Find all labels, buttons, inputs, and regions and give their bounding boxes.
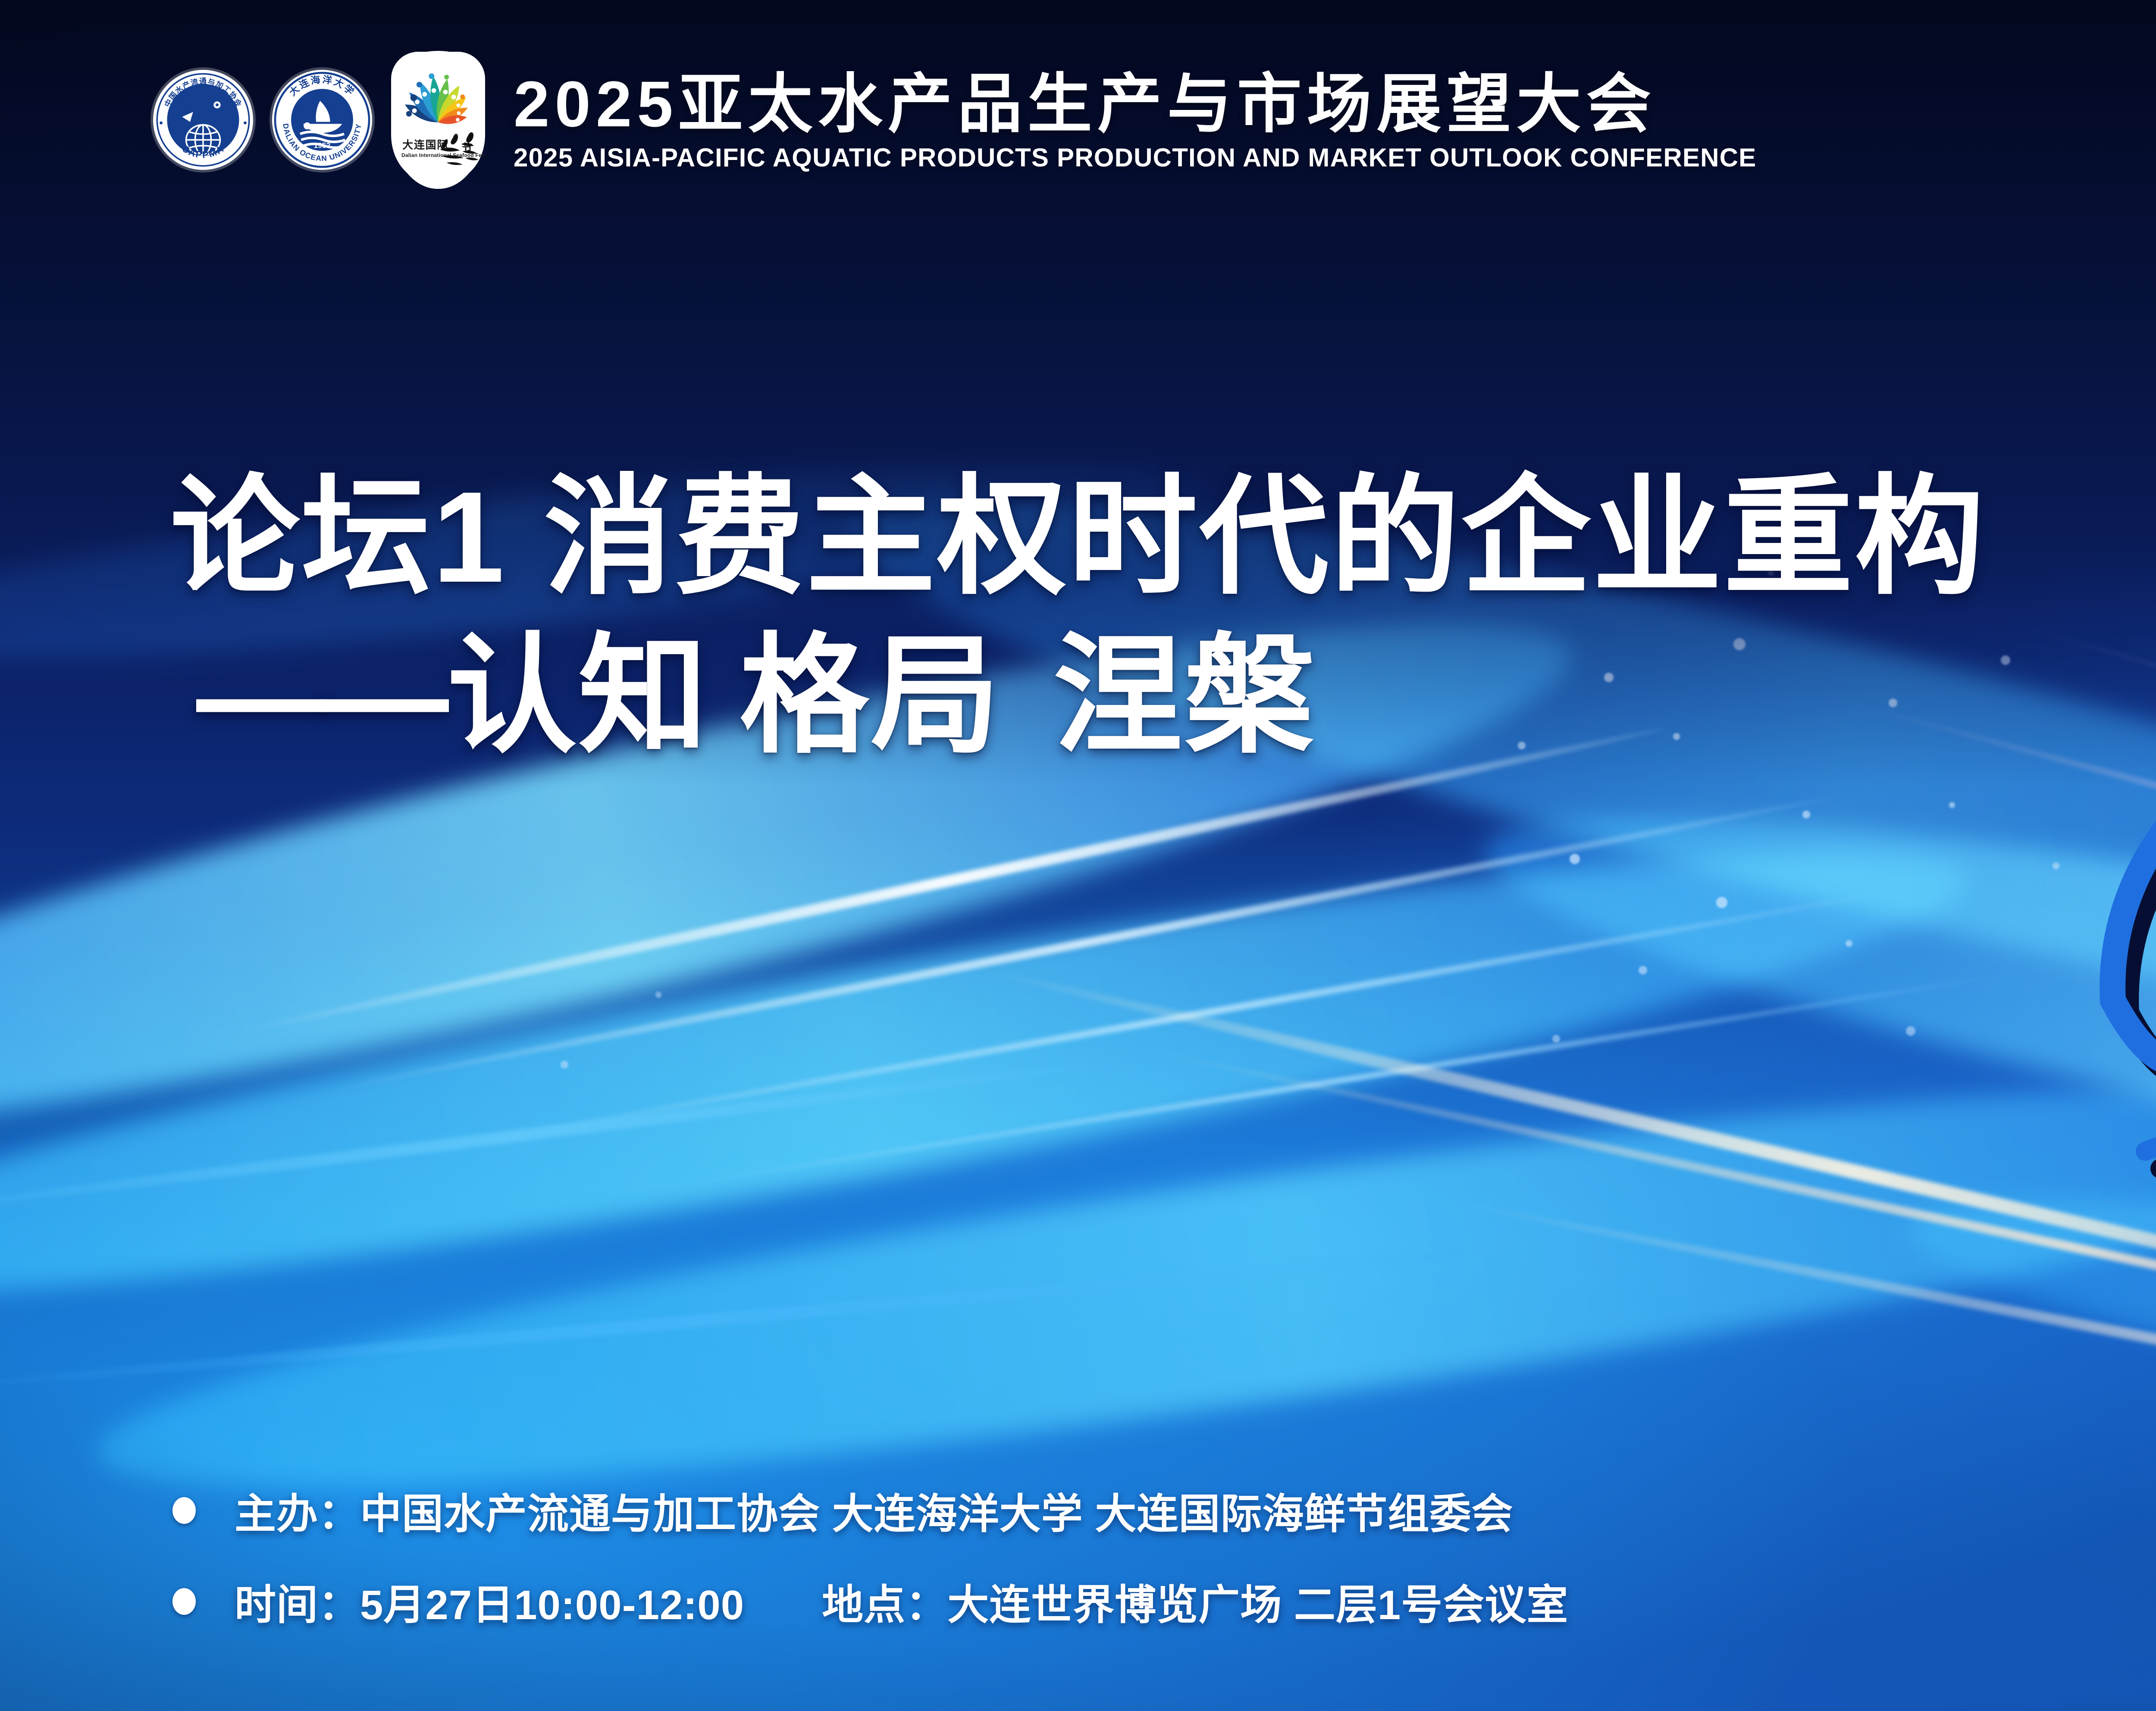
conference-title-en: 2025 AISIA-PACIFIC AQUATIC PRODUCTS PROD… <box>514 144 1756 172</box>
svg-text:1952: 1952 <box>314 141 331 150</box>
forum-title-line1: 论坛1 消费主权时代的企业重构 <box>170 472 2156 602</box>
conference-title-cn: 2025亚太水产品生产与市场展望大会 <box>514 70 1756 138</box>
dalian-ocean-university-logo: 1952 大连海洋大学 DALIAN OCEAN UNIVERSITY <box>272 70 372 170</box>
dalian-seafood-festival-logo: 大连国际 Dalian International Seafood Festiv… <box>391 51 485 189</box>
conference-title-block: 2025亚太水产品生产与市场展望大会 2025 AISIA-PACIFIC AQ… <box>514 68 1756 172</box>
info-row-organizers: 主办：中国水产流通与加工协会 大连海洋大学 大连国际海鲜节组委会 <box>172 1480 1568 1540</box>
info-row-time-place: 时间：5月27日10:00-12:00地点：大连世界博览广场 二层1号会议室 <box>172 1571 1568 1631</box>
time-label: 时间： <box>235 1582 360 1628</box>
organizers-text: 主办：中国水产流通与加工协会 大连海洋大学 大连国际海鲜节组委会 <box>235 1480 1513 1540</box>
time-value: 5月27日10:00-12:00 <box>360 1582 744 1628</box>
forum-main-title: 论坛1 消费主权时代的企业重构 ——认知格局涅槃 <box>170 472 2156 760</box>
forum-title-line2: ——认知格局涅槃 <box>170 631 2156 760</box>
background-vignette <box>0 0 2156 1711</box>
place-value: 大连世界博览广场 二层1号会议室 <box>947 1582 1568 1628</box>
organizer-logos: 中国水产流通与加工协会 CAPPMA <box>153 51 485 189</box>
svg-text:节: 节 <box>462 142 472 154</box>
forum-keyword-pattern: 格局 <box>740 623 1002 768</box>
cappma-logo: 中国水产流通与加工协会 CAPPMA <box>153 70 253 170</box>
bullet-icon <box>172 1588 196 1615</box>
time-place-text: 时间：5月27日10:00-12:00地点：大连世界博览广场 二层1号会议室 <box>235 1571 1568 1631</box>
bullet-icon <box>172 1497 196 1524</box>
event-info-block: 主办：中国水产流通与加工协会 大连海洋大学 大连国际海鲜节组委会 时间：5月27… <box>172 1480 1568 1631</box>
header-left-group: 中国水产流通与加工协会 CAPPMA <box>153 51 1756 189</box>
conference-banner: 中国水产流通与加工协会 CAPPMA <box>0 0 2156 1711</box>
forum-keyword-nirvana: 涅槃 <box>1053 623 1316 768</box>
forum-keyword-cognition: 认知 <box>447 623 709 768</box>
forum-title-dash: —— <box>196 623 443 768</box>
banner-header: 中国水产流通与加工协会 CAPPMA <box>0 0 2156 191</box>
place-label: 地点： <box>822 1582 947 1628</box>
